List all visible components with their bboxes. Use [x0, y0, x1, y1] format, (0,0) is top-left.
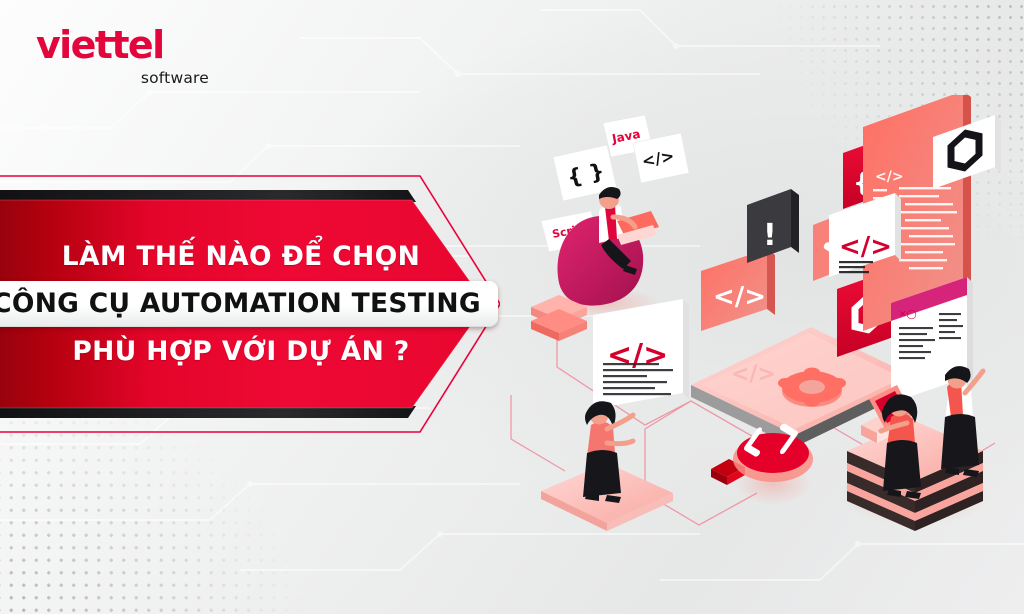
analyst-woman-at-desk — [881, 394, 921, 499]
banner-highlight-pill: CÔNG CỤ AUTOMATION TESTING — [0, 281, 498, 327]
isometric-automation-testing-scene: Script { } Java </> — [495, 95, 1024, 555]
card-code-pink: </> — [701, 249, 775, 331]
svg-text:!: ! — [763, 218, 777, 253]
illustration-svg: Script { } Java </> — [495, 95, 1024, 555]
logo-subtext: software — [36, 71, 211, 87]
banner-line-1: LÀM THẾ NÀO ĐỂ CHỌN — [62, 241, 420, 272]
banner-line-3: PHÙ HỢP VỚI DỰ ÁN ? — [72, 336, 409, 367]
svg-text:</>: </> — [839, 232, 892, 262]
viettel-software-logo[interactable]: viettel software — [36, 26, 211, 87]
banner-highlight-text: CÔNG CỤ AUTOMATION TESTING — [0, 288, 481, 319]
card-alert: ! — [747, 189, 799, 263]
title-banner: LÀM THẾ NÀO ĐỂ CHỌN CÔNG CỤ AUTOMATION T… — [0, 168, 500, 440]
svg-text:✕◯: ✕◯ — [899, 310, 917, 320]
code-screen-white: </> — [593, 299, 689, 409]
svg-text:</>: </> — [607, 338, 668, 373]
poster-canvas: viettel software — [0, 0, 1024, 614]
logo-wordmark: viettel — [36, 26, 211, 64]
banner-text-block: LÀM THẾ NÀO ĐỂ CHỌN CÔNG CỤ AUTOMATION T… — [0, 168, 470, 440]
svg-text:</>: </> — [731, 362, 776, 387]
svg-text:</>: </> — [713, 282, 766, 312]
svg-text:</>: </> — [875, 169, 904, 185]
